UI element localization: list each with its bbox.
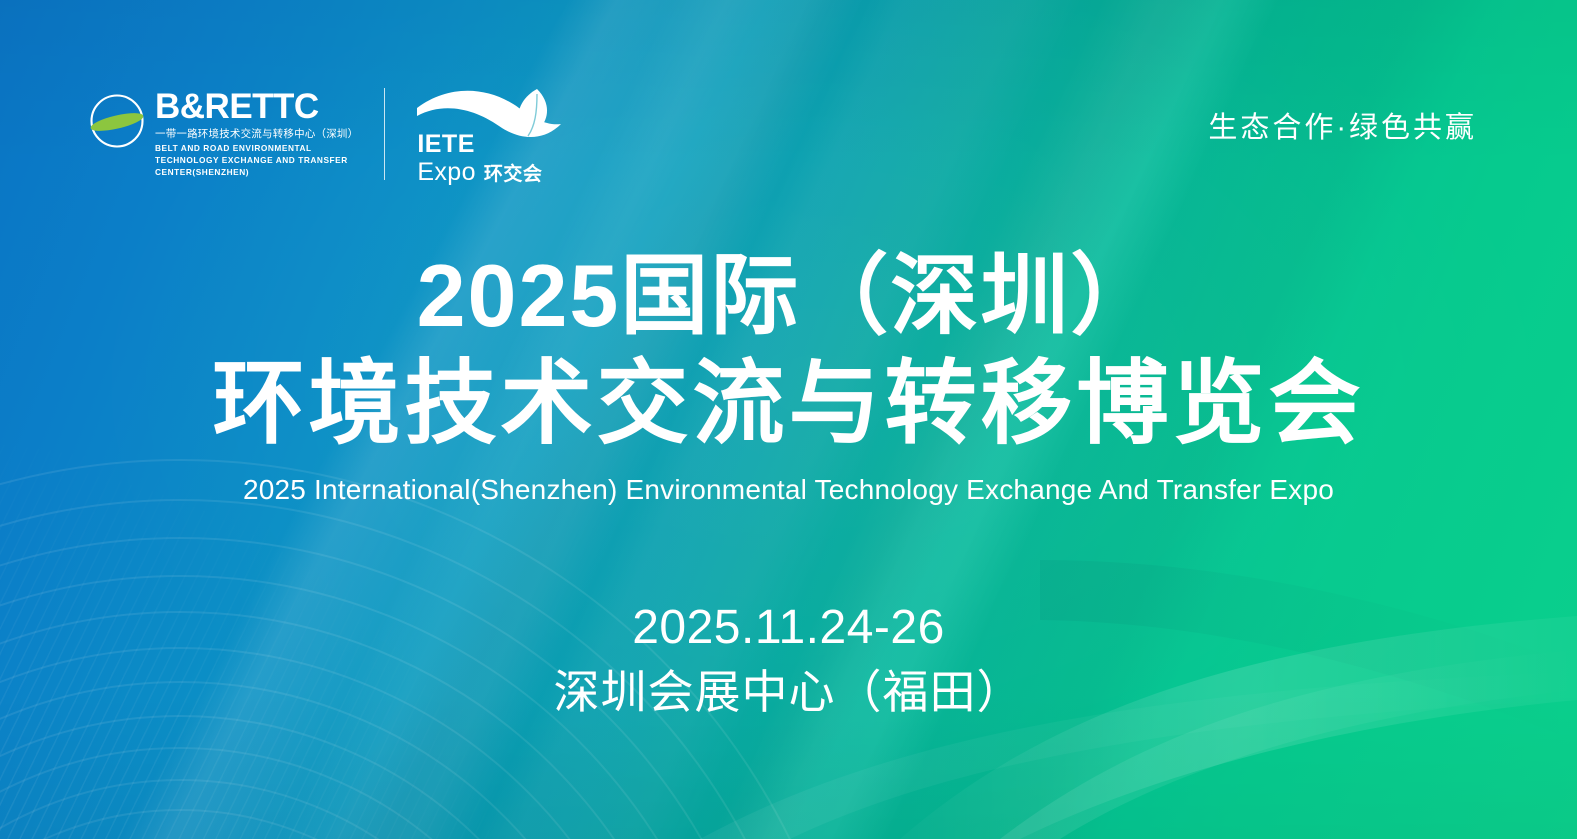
iete-wordmark: IETE [417,132,542,157]
title-en: 2025 International(Shenzhen) Environment… [0,474,1577,506]
iete-label-cn: 环交会 [484,165,543,184]
iete-subline: Expo 环交会 [417,160,542,185]
brettc-wordmark: B&RETTC [155,89,358,124]
iete-expo-label: Expo [417,160,476,185]
event-date: 2025.11.24-26 [0,600,1577,657]
brettc-circle-band-icon [88,92,146,155]
iete-text-block: IETE Expo 环交会 [417,132,542,185]
event-meta-block: 2025.11.24-26 深圳会展中心（福田） [0,600,1577,719]
banner-slogan: 生态合作·绿色共赢 [1208,104,1477,146]
hero-title-block: 2025国际（深圳） 环境技术交流与转移博览会 2025 Internation… [0,252,1577,506]
brettc-text-block: B&RETTC 一带一路环境技术交流与转移中心（深圳） BELT AND ROA… [155,88,358,178]
brettc-name-en: BELT AND ROAD ENVIRONMENTAL TECHNOLOGY E… [155,143,351,178]
logo-iete-expo: IETE Expo 环交会 [415,88,575,188]
banner-header: B&RETTC 一带一路环境技术交流与转移中心（深圳） BELT AND ROA… [0,0,1577,200]
title-cn-line1: 2025国际（深圳） [0,252,1577,340]
logo-brettc: B&RETTC 一带一路环境技术交流与转移中心（深圳） BELT AND ROA… [88,88,385,180]
logo-group: B&RETTC 一带一路环境技术交流与转移中心（深圳） BELT AND ROA… [88,88,575,188]
title-cn-line2: 环境技术交流与转移博览会 [0,358,1577,450]
event-banner: B&RETTC 一带一路环境技术交流与转移中心（深圳） BELT AND ROA… [0,0,1577,839]
event-venue: 深圳会展中心（福田） [0,665,1577,719]
brettc-name-cn: 一带一路环境技术交流与转移中心（深圳） [155,128,358,141]
